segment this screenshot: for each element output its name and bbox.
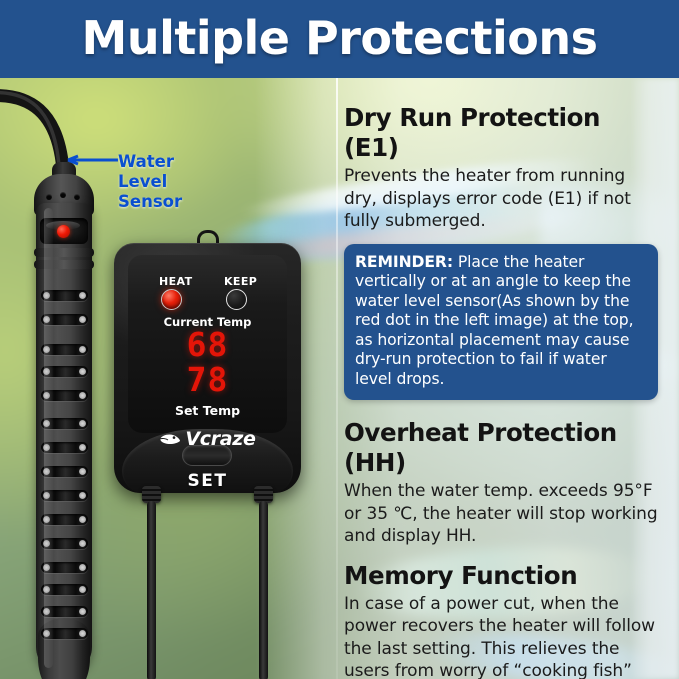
heater-vent-slot: [41, 366, 88, 377]
spacer: [344, 400, 661, 418]
heat-led-icon: [161, 289, 182, 310]
reminder-prefix: REMINDER:: [355, 253, 453, 271]
heater-vent-slot: [41, 442, 88, 453]
column-divider: [336, 78, 338, 679]
set-temp-label: Set Temp: [114, 403, 301, 418]
callout-line-1: Water: [118, 152, 182, 172]
power-cable-right: [259, 501, 268, 679]
reminder-callout-box: REMINDER: Place the heater vertically or…: [344, 244, 658, 401]
set-button[interactable]: [182, 445, 232, 466]
heater-vent-slot: [41, 490, 88, 501]
heater-vent-slot: [41, 584, 88, 595]
keep-led-icon: [226, 289, 247, 310]
heater-vent-slot: [41, 628, 88, 639]
heater-vent-slot: [41, 418, 88, 429]
vcraze-fish-icon: [159, 432, 181, 447]
tube-ring: [34, 248, 94, 257]
spacer: [344, 548, 661, 561]
callout-line-2: Level: [118, 172, 182, 192]
header-banner: Multiple Protections: [0, 0, 679, 78]
section-body-memory: In case of a power cut, when the power r…: [344, 593, 661, 679]
heater-vent-slot: [41, 390, 88, 401]
reminder-body: Place the heater vertically or at an ang…: [355, 253, 633, 388]
heater-vent-slot: [41, 290, 88, 301]
water-level-sensor-red-dot: [57, 225, 70, 238]
section-title-dry-run: Dry Run Protection (E1): [344, 103, 661, 163]
water-level-sensor-callout: Water Level Sensor: [118, 152, 182, 212]
heater-vent-slot: [41, 344, 88, 355]
callout-line-3: Sensor: [118, 192, 182, 212]
power-cable-left: [147, 501, 156, 679]
heater-vent-slot: [41, 514, 88, 525]
temperature-controller: HEAT KEEP Current Temp 68 78 Set Temp Vc…: [114, 243, 301, 508]
set-temp-value: 78: [114, 363, 301, 397]
section-title-memory: Memory Function: [344, 561, 661, 591]
heater-vent-slot: [41, 314, 88, 325]
tube-ring: [34, 260, 94, 269]
heat-indicator-label: HEAT: [159, 275, 192, 288]
features-column: Dry Run Protection (E1) Prevents the hea…: [340, 78, 679, 679]
heater-vent-slot: [41, 466, 88, 477]
heater-vent-slot: [41, 538, 88, 549]
keep-indicator-label: KEEP: [224, 275, 257, 288]
current-temp-value: 68: [114, 328, 301, 362]
vent-hole-icon: [46, 194, 52, 200]
section-body-dry-run: Prevents the heater from running dry, di…: [344, 165, 661, 233]
infographic-page: Multiple Protections: [0, 0, 679, 679]
section-title-overheat: Overheat Protection (HH): [344, 418, 661, 478]
heater-vent-slot: [41, 606, 88, 617]
section-body-overheat: When the water temp. exceeds 95°F or 35 …: [344, 480, 661, 548]
heater-vent-slot: [41, 562, 88, 573]
heater-tube: [36, 203, 92, 675]
page-title: Multiple Protections: [0, 5, 679, 71]
